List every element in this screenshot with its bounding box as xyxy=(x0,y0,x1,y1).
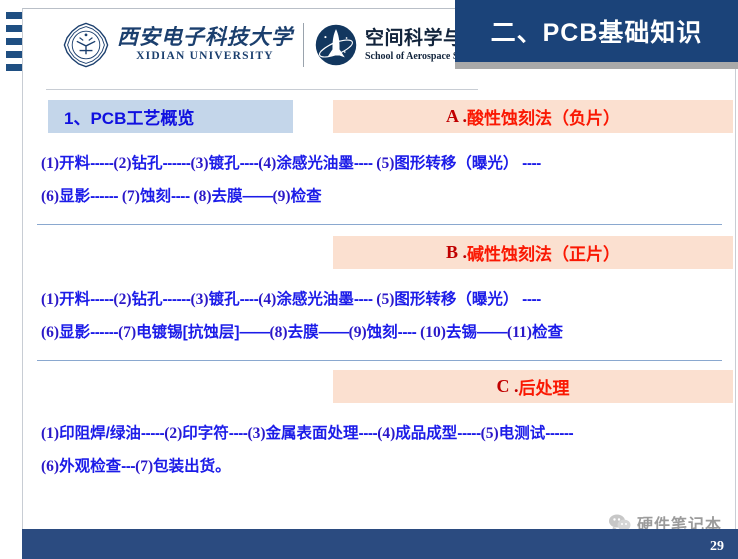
step-label: 去膜 xyxy=(212,188,243,205)
university-seal-icon xyxy=(63,22,109,68)
step-number: (11) xyxy=(507,324,532,341)
steps-line-c2: (6)外观检查---(7)包装出货。 xyxy=(23,459,736,475)
step-number: (1) xyxy=(41,155,59,172)
step-number: (2) xyxy=(113,291,131,308)
step-label: 电镀锡[抗蚀层] xyxy=(136,324,239,341)
step-label: 包装出货。 xyxy=(153,458,231,475)
step-number: (5) xyxy=(376,291,394,308)
step-number: (4) xyxy=(258,291,276,308)
step-label: 镀孔 xyxy=(209,155,240,172)
step-label: 镀孔 xyxy=(209,291,240,308)
step-number: (6) xyxy=(41,188,59,205)
step-label: 显影 xyxy=(59,188,90,205)
step-connector: ------ xyxy=(163,291,191,308)
step-connector: ----- xyxy=(457,425,480,442)
slide-body: 1、PCB工艺概览 A . 酸性蚀刻法（负片） (1)开料-----(2)钻孔-… xyxy=(23,86,736,533)
page-title: 二、PCB基础知识 xyxy=(491,13,703,49)
step-label: 电测试 xyxy=(499,425,546,442)
step-number: (8) xyxy=(269,324,287,341)
step-connector: ---- xyxy=(354,155,376,172)
aerospace-rocket-logo-icon xyxy=(314,23,358,67)
step-number: (3) xyxy=(190,291,208,308)
step-label: 蚀刻 xyxy=(367,324,398,341)
step-connector: ---- xyxy=(518,291,540,308)
step-connector: ------ xyxy=(90,188,122,205)
step-connector: ------ xyxy=(90,324,118,341)
step-connector: —— xyxy=(239,324,269,341)
step-connector: ---- xyxy=(354,291,376,308)
step-connector: ---- xyxy=(229,425,248,442)
section-letter-a: A . xyxy=(446,106,467,127)
step-label: 开料 xyxy=(59,155,90,172)
section-header-b: B . 碱性蚀刻法（正片） xyxy=(333,236,733,269)
steps-line-b1: (1)开料-----(2)钻孔------(3)镀孔----(4)涂感光油墨--… xyxy=(23,292,736,308)
step-connector: —— xyxy=(319,324,349,341)
step-connector: ---- xyxy=(240,155,259,172)
step-connector: ----- xyxy=(90,291,113,308)
step-number: (5) xyxy=(376,155,394,172)
section-letter-c: C . xyxy=(497,376,519,397)
step-label: 印阻焊/绿油 xyxy=(59,425,141,442)
step-connector: ---- xyxy=(398,324,420,341)
step-number: (2) xyxy=(164,425,182,442)
steps-line-c1: (1)印阻焊/绿油-----(2)印字符----(3)金属表面处理----(4)… xyxy=(23,426,736,442)
section-band-a: 1、PCB工艺概览 A . 酸性蚀刻法（负片） xyxy=(23,100,736,133)
step-label: 外观检查 xyxy=(59,458,121,475)
university-name-en: XIDIAN UNIVERSITY xyxy=(117,51,293,63)
step-number: (4) xyxy=(258,155,276,172)
step-number: (9) xyxy=(273,188,291,205)
step-connector: ---- xyxy=(359,425,378,442)
section-band-b: B . 碱性蚀刻法（正片） xyxy=(23,236,736,269)
section-header-c: C . 后处理 xyxy=(333,370,733,403)
step-label: 成品成型 xyxy=(395,425,457,442)
step-label: 检查 xyxy=(532,324,563,341)
overview-pill-label: 1、PCB工艺概览 xyxy=(48,104,194,129)
section-name-c: 后处理 xyxy=(519,374,570,399)
step-number: (3) xyxy=(190,155,208,172)
step-number: (3) xyxy=(247,425,265,442)
logo-divider xyxy=(303,23,304,67)
step-connector: —— xyxy=(243,188,273,205)
step-label: 钻孔 xyxy=(131,155,162,172)
section-divider-2 xyxy=(37,360,722,361)
step-label: 印字符 xyxy=(182,425,229,442)
step-label: 涂感光油墨 xyxy=(276,291,354,308)
step-connector: ------ xyxy=(163,155,191,172)
university-name-block: 西安电子科技大学 XIDIAN UNIVERSITY xyxy=(117,27,293,63)
steps-line-a2: (6)显影------ (7)蚀刻---- (8)去膜——(9)检查 xyxy=(23,189,736,205)
step-connector: ----- xyxy=(90,155,113,172)
step-connector: ---- xyxy=(240,291,259,308)
page-number: 29 xyxy=(710,539,724,555)
step-number: (6) xyxy=(41,324,59,341)
section-name-a: 酸性蚀刻法（负片） xyxy=(467,104,620,129)
step-label: 金属表面处理 xyxy=(266,425,359,442)
step-connector: ---- xyxy=(518,155,540,172)
step-number: (1) xyxy=(41,291,59,308)
step-label: 图形转移（曝光） xyxy=(394,155,518,172)
step-number: (7) xyxy=(118,324,136,341)
step-label: 检查 xyxy=(291,188,322,205)
step-number: (7) xyxy=(122,188,140,205)
step-number: (6) xyxy=(41,458,59,475)
title-banner-shadow xyxy=(455,62,738,69)
step-connector: ---- xyxy=(171,188,193,205)
step-label: 蚀刻 xyxy=(140,188,171,205)
footer-bar: 29 xyxy=(22,529,738,559)
step-label: 图形转移（曝光） xyxy=(394,291,518,308)
step-number: (1) xyxy=(41,425,59,442)
step-number: (5) xyxy=(481,425,499,442)
step-connector: ----- xyxy=(141,425,164,442)
section-divider-1 xyxy=(37,224,722,225)
overview-pill: 1、PCB工艺概览 xyxy=(48,100,293,133)
step-number: (4) xyxy=(377,425,395,442)
section-header-a: A . 酸性蚀刻法（负片） xyxy=(333,100,733,133)
slide: 西安电子科技大学 XIDIAN UNIVERSITY 空间科学与技术学院 Sch… xyxy=(0,0,738,559)
step-connector: —— xyxy=(477,324,507,341)
step-connector: ------ xyxy=(545,425,573,442)
step-label: 去膜 xyxy=(288,324,319,341)
university-name-cn: 西安电子科技大学 xyxy=(117,27,293,48)
steps-line-b2: (6)显影------(7)电镀锡[抗蚀层]——(8)去膜——(9)蚀刻----… xyxy=(23,325,736,341)
section-name-b: 碱性蚀刻法（正片） xyxy=(467,240,620,265)
step-number: (10) xyxy=(420,324,446,341)
section-band-c: C . 后处理 xyxy=(23,370,736,403)
section-letter-b: B . xyxy=(446,242,467,263)
step-connector: --- xyxy=(121,458,135,475)
step-number: (9) xyxy=(349,324,367,341)
step-number: (7) xyxy=(135,458,153,475)
step-label: 涂感光油墨 xyxy=(276,155,354,172)
step-label: 钻孔 xyxy=(131,291,162,308)
step-label: 开料 xyxy=(59,291,90,308)
step-label: 去锡 xyxy=(446,324,477,341)
step-label: 显影 xyxy=(59,324,90,341)
step-number: (8) xyxy=(193,188,211,205)
slide-title-banner: 二、PCB基础知识 xyxy=(455,0,738,62)
step-number: (2) xyxy=(113,155,131,172)
steps-line-a1: (1)开料-----(2)钻孔------(3)镀孔----(4)涂感光油墨--… xyxy=(23,156,736,172)
